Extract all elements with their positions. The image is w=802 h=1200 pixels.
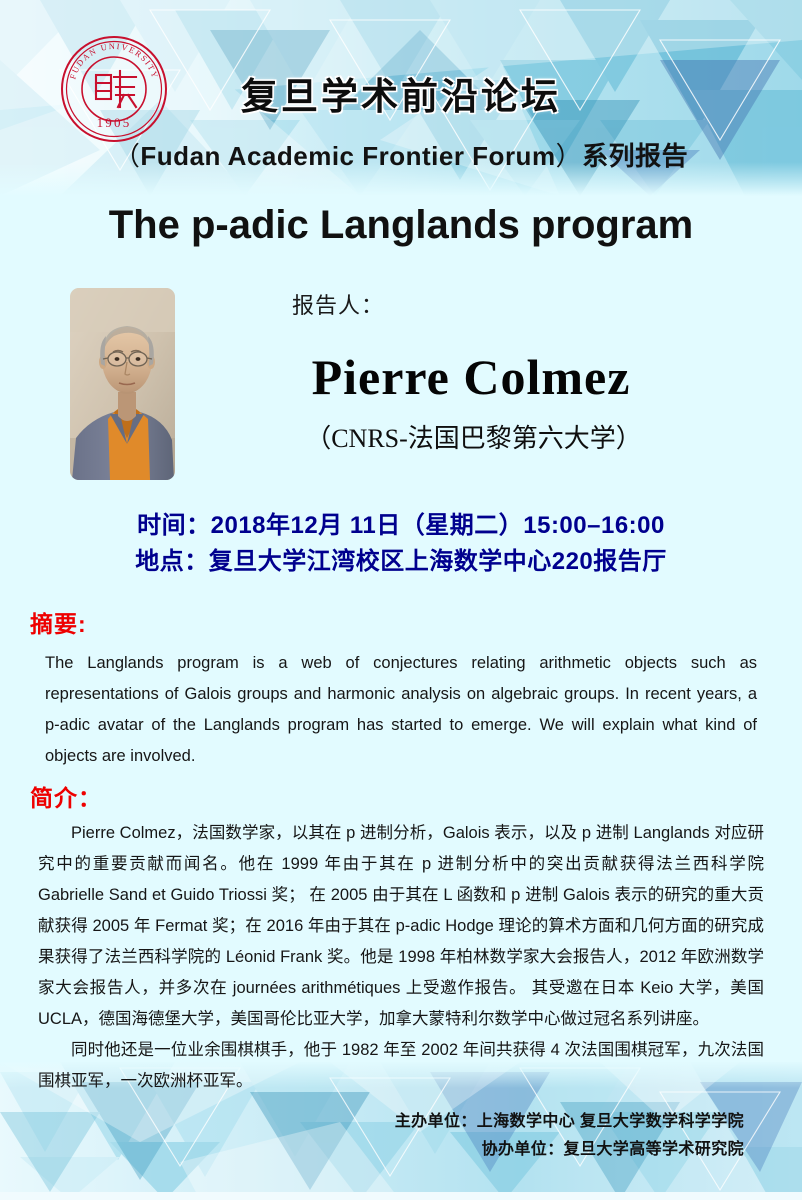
talk-title: The p-adic Langlands program <box>0 203 802 248</box>
bio-paragraph-1: Pierre Colmez，法国数学家，以其在 p 进制分析，Galois 表示… <box>38 818 764 1035</box>
cohost-organization: 协办单位：复旦大学高等学术研究院 <box>0 1136 744 1164</box>
bio-heading: 简介： <box>30 779 102 813</box>
affiliation-latin: CNRS- <box>331 424 408 453</box>
forum-title-english: （Fudan Academic Frontier Forum）系列报告 <box>0 136 802 173</box>
event-location: 地点：复旦大学江湾校区上海数学中心220报告厅 <box>0 544 802 580</box>
forum-title-series-suffix: 系列报告 <box>582 141 688 171</box>
organizer-info: 主办单位：上海数学中心 复旦大学数学科学学院 协办单位：复旦大学高等学术研究院 <box>0 1108 744 1164</box>
speaker-affiliation: （CNRS-法国巴黎第六大学） <box>200 418 747 455</box>
affiliation-close-paren: ） <box>616 423 642 453</box>
event-time: 时间：2018年12月 11日（星期二）15:00–16:00 <box>0 508 802 544</box>
bio-text: Pierre Colmez，法国数学家，以其在 p 进制分析，Galois 表示… <box>38 818 764 1097</box>
bio-paragraph-2: 同时他还是一位业余围棋棋手，他于 1982 年至 2002 年间共获得 4 次法… <box>38 1035 764 1097</box>
abstract-heading: 摘要: <box>30 605 87 639</box>
forum-title-english-main: Fudan Academic Frontier Forum <box>140 141 555 171</box>
forum-title-chinese: 复旦学术前沿论坛 <box>0 66 802 120</box>
abstract-text: The Langlands program is a web of conjec… <box>45 648 757 772</box>
affiliation-open-paren: （ <box>305 423 331 453</box>
affiliation-chinese: 法国巴黎第六大学 <box>408 423 616 453</box>
event-details: 时间：2018年12月 11日（星期二）15:00–16:00 地点：复旦大学江… <box>0 508 802 580</box>
poster-root: FUDAN UNIVERSITY 1905 复旦学术前沿论坛 （Fudan Ac… <box>0 0 802 1200</box>
speaker-photo <box>70 288 175 480</box>
forum-title-close-paren: ） <box>556 141 583 171</box>
host-organization: 主办单位：上海数学中心 复旦大学数学科学学院 <box>0 1108 744 1136</box>
forum-title-open-paren: （ <box>114 141 141 171</box>
speaker-name: Pierre Colmez <box>200 348 742 406</box>
speaker-label: 报告人： <box>292 288 384 320</box>
